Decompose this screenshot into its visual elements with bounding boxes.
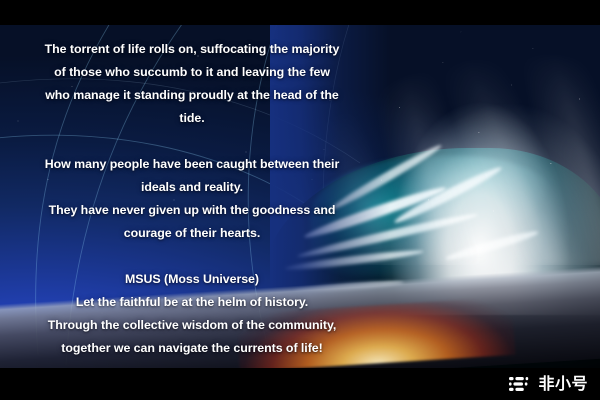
feixiaohao-dots-logo-icon xyxy=(509,376,533,392)
copy-line: They have never given up with the goodne… xyxy=(18,199,366,222)
copy-line: Through the collective wisdom of the com… xyxy=(18,314,366,337)
letterbox-top-bar xyxy=(0,0,600,25)
copy-line: How many people have been caught between… xyxy=(18,153,366,176)
copy-line: ideals and reality. xyxy=(18,176,366,199)
poster-canvas: The torrent of life rolls on, suffocatin… xyxy=(0,0,600,400)
copy-line: courage of their hearts. xyxy=(18,222,366,245)
copy-spacer xyxy=(18,245,366,268)
copy-line: who manage it standing proudly at the he… xyxy=(18,84,366,107)
watermark-brand: 非小号 xyxy=(538,376,588,392)
poster-copy: The torrent of life rolls on, suffocatin… xyxy=(18,38,366,360)
copy-line: The torrent of life rolls on, suffocatin… xyxy=(18,38,366,61)
copy-spacer xyxy=(18,130,366,153)
copy-line: tide. xyxy=(18,107,366,130)
copy-line: of those who succumb to it and leaving t… xyxy=(18,61,366,84)
copy-line: MSUS (Moss Universe) xyxy=(18,268,366,291)
watermark: 非小号 xyxy=(509,373,588,394)
copy-line: Let the faithful be at the helm of histo… xyxy=(18,291,366,314)
copy-line: together we can navigate the currents of… xyxy=(18,337,366,360)
